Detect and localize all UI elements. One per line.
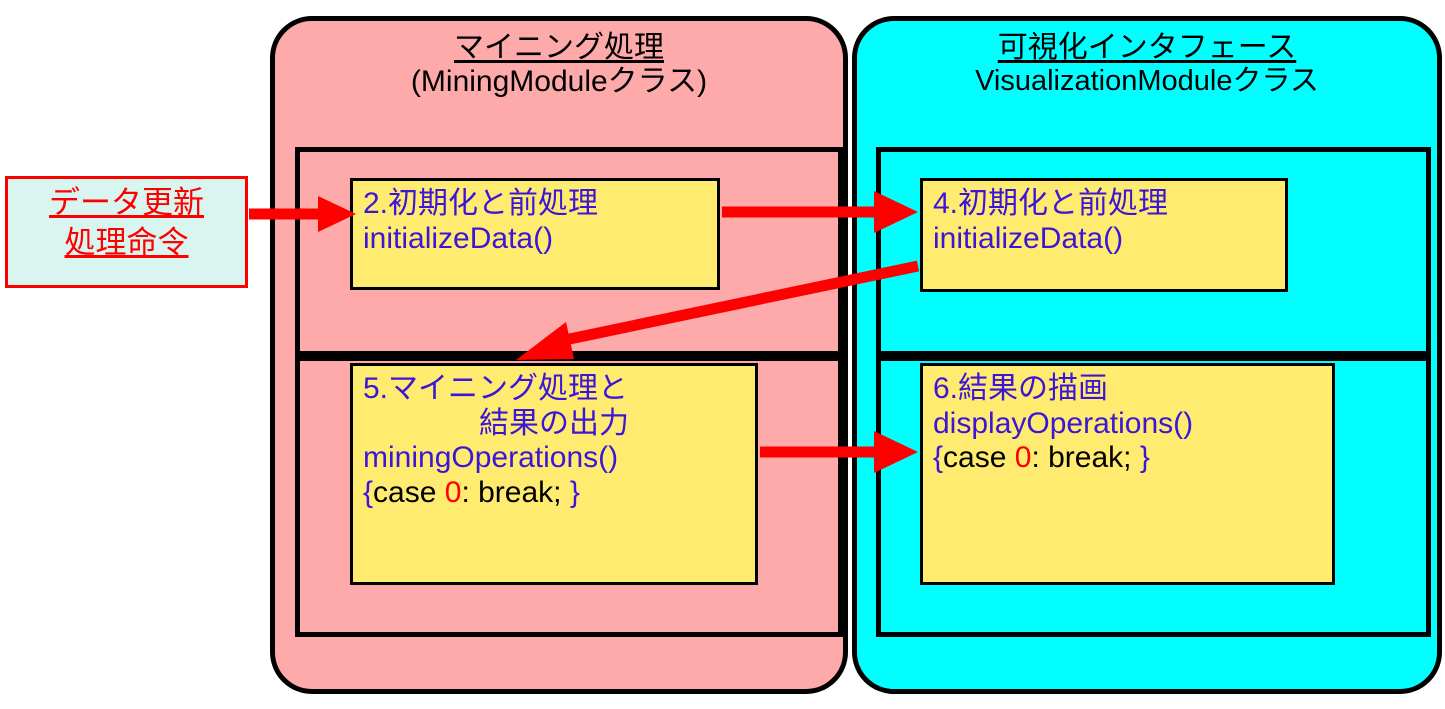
box-5-step-label-2: 結果の出力: [363, 407, 745, 442]
method-box-display-operations[interactable]: 6.結果の描画 displayOperations() {case 0: bre…: [920, 363, 1335, 585]
box-2-step-label: 2.初期化と前処理: [363, 187, 707, 222]
panel-visualization-subtitle-text: VisualizationModuleクラス: [857, 65, 1437, 97]
panel-visualization-title-text: 可視化インタフェース: [998, 31, 1297, 65]
command-line-1: データ更新: [8, 183, 245, 223]
panel-visualization-title: 可視化インタフェース VisualizationModuleクラス: [857, 31, 1437, 97]
panel-mining-title-text: マイニング処理: [454, 31, 664, 65]
command-line-2: 処理命令: [8, 223, 245, 263]
panel-mining-subtitle-text: (MiningModuleクラス): [275, 65, 843, 99]
box-2-method-label: initializeData(): [363, 222, 707, 257]
box-4-step-label: 4.初期化と前処理: [933, 187, 1275, 222]
diagram-canvas: マイニング処理 (MiningModuleクラス) 可視化インタフェース Vis…: [0, 0, 1445, 709]
method-box-initialize-mining[interactable]: 2.初期化と前処理 initializeData(): [350, 178, 720, 290]
box-4-method-label: initializeData(): [933, 222, 1275, 257]
method-box-initialize-visualization[interactable]: 4.初期化と前処理 initializeData(): [920, 178, 1288, 292]
panel-visualization-module: 可視化インタフェース VisualizationModuleクラス: [852, 16, 1442, 694]
data-update-command-box[interactable]: データ更新 処理命令: [5, 176, 248, 288]
box-5-step-label: 5.マイニング処理と: [363, 372, 745, 407]
box-6-code-snippet: {case 0: break; }: [933, 441, 1322, 476]
panel-mining-module: マイニング処理 (MiningModuleクラス): [270, 16, 848, 694]
method-box-mining-operations[interactable]: 5.マイニング処理と 結果の出力 miningOperations() {cas…: [350, 363, 758, 585]
box-5-code-snippet: {case 0: break; }: [363, 476, 745, 511]
box-5-method-label: miningOperations(): [363, 441, 745, 476]
panel-mining-title: マイニング処理 (MiningModuleクラス): [275, 31, 843, 98]
box-6-method-label: displayOperations(): [933, 407, 1322, 442]
box-6-step-label: 6.結果の描画: [933, 372, 1322, 407]
